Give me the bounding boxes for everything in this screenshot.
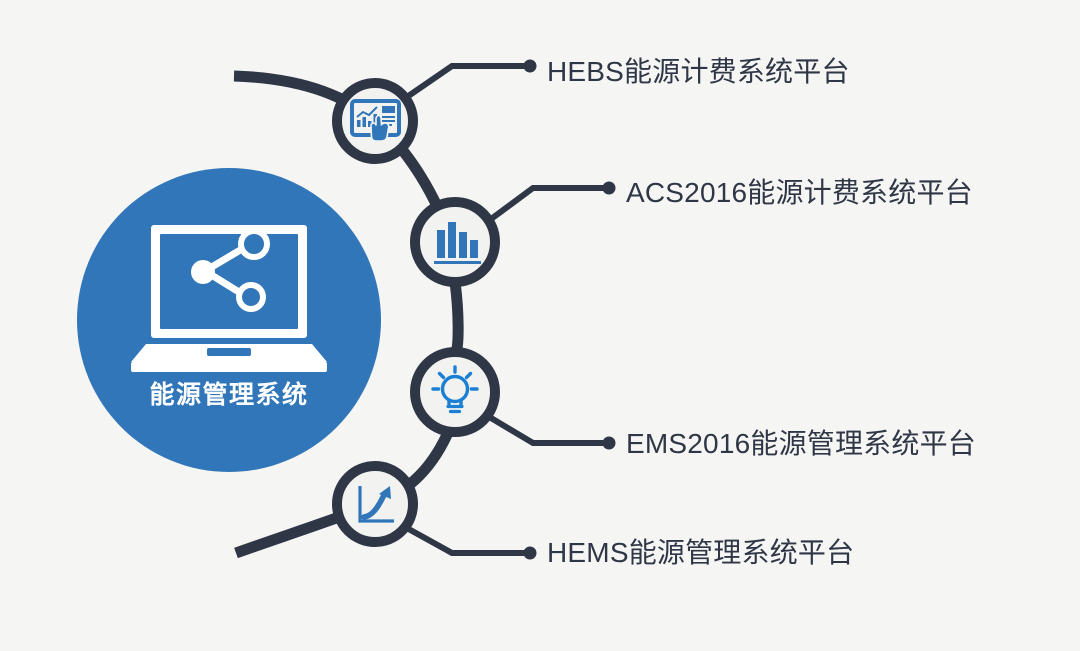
node-hebs[interactable] xyxy=(337,83,413,159)
spine-curve-middle xyxy=(455,282,458,352)
connector-dot-ems2016 xyxy=(603,437,616,450)
connector-group xyxy=(404,60,616,560)
node-acs2016[interactable] xyxy=(415,202,495,282)
connector-ems2016 xyxy=(486,415,607,443)
connector-acs2016 xyxy=(487,188,607,222)
connector-hems xyxy=(405,527,528,553)
node-ems2016-circle[interactable] xyxy=(415,352,495,432)
diagram-canvas xyxy=(0,0,1080,651)
connector-dot-acs2016 xyxy=(603,182,616,195)
connector-dot-hebs xyxy=(524,60,537,73)
node-hems[interactable] xyxy=(337,466,413,542)
branch-label-ems2016[interactable]: EMS2016能源管理系统平台 xyxy=(626,430,976,458)
connector-dot-hems xyxy=(524,547,537,560)
branch-label-hems[interactable]: HEMS能源管理系统平台 xyxy=(547,539,854,567)
connector-hebs xyxy=(404,66,528,99)
branch-label-hebs[interactable]: HEBS能源计费系统平台 xyxy=(547,58,850,86)
energy-management-diagram: 能源管理系统 HEBS能源计费系统平台 ACS2016能源计费系统平台 EMS2… xyxy=(0,0,1080,651)
hub-label: 能源管理系统 xyxy=(149,375,308,411)
laptop-share-icon xyxy=(131,225,327,372)
node-hems-circle[interactable] xyxy=(337,466,413,542)
node-ems2016[interactable] xyxy=(415,352,495,432)
branch-label-acs2016[interactable]: ACS2016能源计费系统平台 xyxy=(626,179,973,207)
